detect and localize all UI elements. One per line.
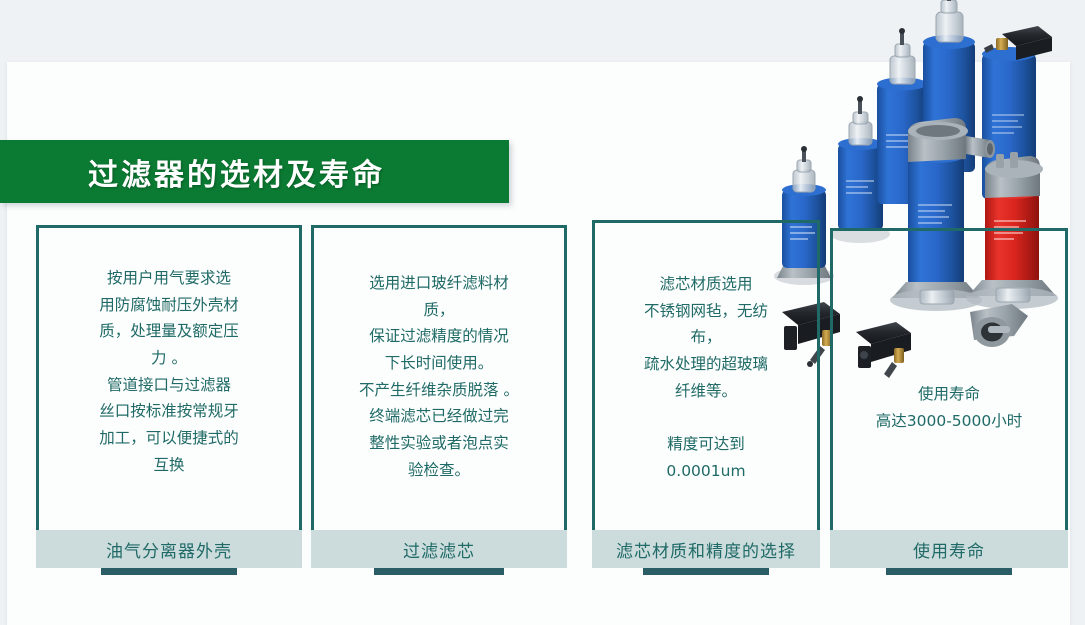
card-body-text: 选用进口玻纤滤料材 质， 保证过滤精度的情况 下长时间使用。 不产生纤维杂质脱落… bbox=[314, 270, 564, 483]
accent-bar bbox=[643, 568, 769, 575]
accent-bar bbox=[886, 568, 1012, 575]
card-footer-oil-gas-separator-shell: 油气分离器外壳 bbox=[36, 530, 302, 568]
card-oil-gas-separator-shell: 按用户用气要求选 用防腐蚀耐压外壳材 质，处理量及额定压 力 。 管道接口与过滤… bbox=[36, 225, 302, 534]
title-banner: 过滤器的选材及寿命 bbox=[0, 140, 509, 203]
card-footer-service-life: 使用寿命 bbox=[830, 530, 1068, 568]
page-title: 过滤器的选材及寿命 bbox=[88, 150, 385, 194]
card-service-life: 使用寿命 高达3000-5000小时 bbox=[830, 228, 1068, 534]
card-element-material-and-accuracy: 滤芯材质选用 不锈钢网毡，无纺 布， 疏水处理的超玻璃 纤维等。 精度可达到 0… bbox=[592, 220, 820, 534]
slide-canvas: 过滤器的选材及寿命 按用户用气要求选 用防腐蚀耐压外壳材 质，处理量及额定压 力… bbox=[0, 0, 1085, 625]
card-footer-element-material-and-accuracy: 滤芯材质和精度的选择 bbox=[592, 530, 820, 568]
card-body-text: 滤芯材质选用 不锈钢网毡，无纺 布， 疏水处理的超玻璃 纤维等。 精度可达到 0… bbox=[595, 271, 817, 484]
card-body-text: 按用户用气要求选 用防腐蚀耐压外壳材 质，处理量及额定压 力 。 管道接口与过滤… bbox=[39, 265, 299, 478]
card-footer-filter-element: 过滤滤芯 bbox=[311, 530, 567, 568]
card-body-text: 使用寿命 高达3000-5000小时 bbox=[833, 381, 1065, 434]
card-filter-element: 选用进口玻纤滤料材 质， 保证过滤精度的情况 下长时间使用。 不产生纤维杂质脱落… bbox=[311, 225, 567, 534]
accent-bar bbox=[374, 568, 504, 575]
accent-bar bbox=[101, 568, 237, 575]
